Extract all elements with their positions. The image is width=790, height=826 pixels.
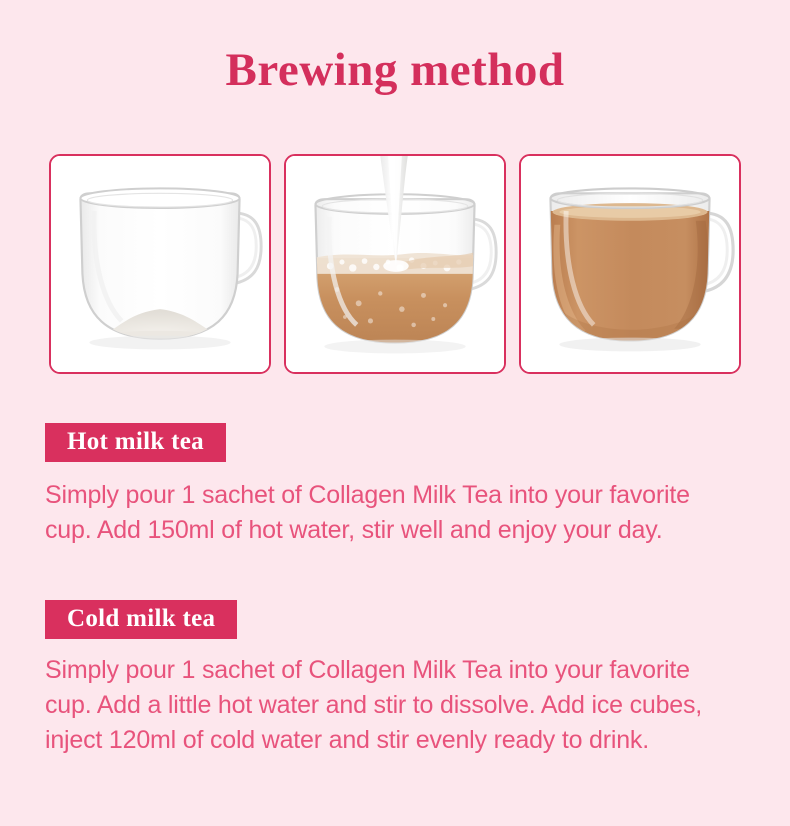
step-image-2-photo [286, 156, 504, 372]
page-title: Brewing method [0, 44, 790, 96]
section-text-cold-milk-tea: Simply pour 1 sachet of Collagen Milk Te… [45, 653, 705, 758]
cup-of-milk-tea-illustration [521, 156, 739, 372]
brewing-method-page: Brewing method [0, 0, 790, 826]
step-image-1 [49, 154, 271, 374]
step-images-row [49, 154, 741, 374]
section-badge-hot-milk-tea: Hot milk tea [45, 423, 226, 462]
cup-with-powder-illustration [51, 156, 269, 372]
section-cold-milk-tea: Cold milk tea Simply pour 1 sachet of Co… [45, 600, 745, 758]
step-image-3-photo [521, 156, 739, 372]
step-image-1-photo [51, 156, 269, 372]
step-image-2 [284, 154, 506, 374]
section-text-hot-milk-tea: Simply pour 1 sachet of Collagen Milk Te… [45, 478, 705, 548]
cup-pouring-water-illustration [286, 156, 504, 372]
step-image-3 [519, 154, 741, 374]
section-badge-cold-milk-tea: Cold milk tea [45, 600, 237, 639]
section-hot-milk-tea: Hot milk tea Simply pour 1 sachet of Col… [45, 423, 745, 548]
